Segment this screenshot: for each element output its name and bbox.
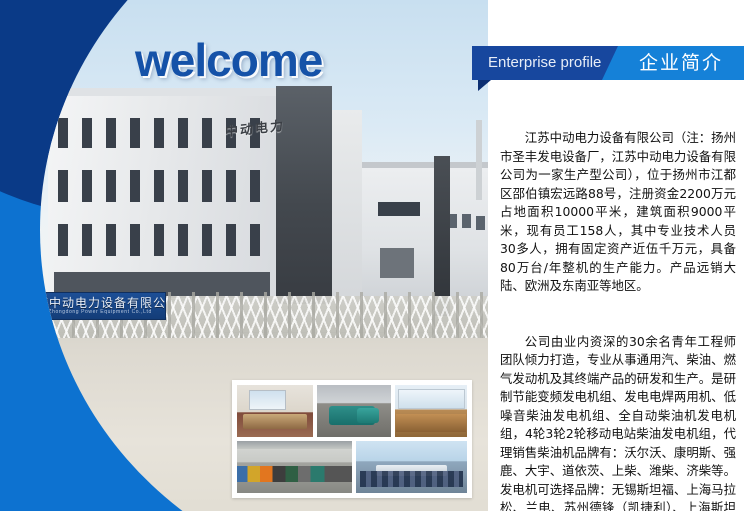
gallery-row-bottom	[237, 441, 467, 493]
workshop-gensets-photo[interactable]	[237, 441, 352, 493]
gallery-row-top	[237, 385, 467, 437]
tower-side-wall	[332, 110, 362, 304]
tab-enterprise-profile-en[interactable]: Enterprise profile	[472, 46, 620, 80]
profile-body-text: 江苏中动电力设备有限公司（注：扬州市圣丰发电设备厂，江苏中动电力设备有限公司为一…	[500, 92, 736, 511]
company-signboard: 江苏中动电力设备有限公司 Jiangsu Zhongdong Power Equ…	[40, 292, 166, 320]
promo-banner-page: 中动电力 江苏中动电力设备有限公司 Jiangsu Zhongdong Powe…	[0, 0, 750, 511]
tab-fold-corner	[478, 80, 491, 91]
profile-paragraph-2: 公司由业内资深的30余名青年工程师团队倾力打造，专业从事通用汽、柴油、燃气发动机…	[500, 333, 736, 511]
meeting-room-photo[interactable]	[237, 385, 313, 437]
office-reception-photo[interactable]	[395, 385, 467, 437]
welcome-heading: welcome	[135, 33, 322, 87]
tab-enterprise-profile-cn[interactable]: 企业简介	[618, 46, 744, 80]
warehouse-building	[362, 168, 488, 304]
boardroom-photo[interactable]	[356, 441, 467, 493]
profile-header-tabs: Enterprise profile 企业简介	[472, 46, 744, 80]
chimney	[476, 120, 482, 200]
enterprise-profile-panel: Enterprise profile 企业简介 江苏中动电力设备有限公司（注：扬…	[488, 0, 750, 511]
profile-paragraph-1: 江苏中动电力设备有限公司（注：扬州市圣丰发电设备厂，江苏中动电力设备有限公司为一…	[500, 129, 736, 296]
profile-inner-card: Enterprise profile 企业简介 江苏中动电力设备有限公司（注：扬…	[488, 0, 746, 507]
signboard-english-name: Jiangsu Zhongdong Power Equipment Co.,Lt…	[40, 309, 152, 315]
photo-gallery-collage	[232, 380, 472, 498]
generator-set-photo[interactable]	[317, 385, 391, 437]
